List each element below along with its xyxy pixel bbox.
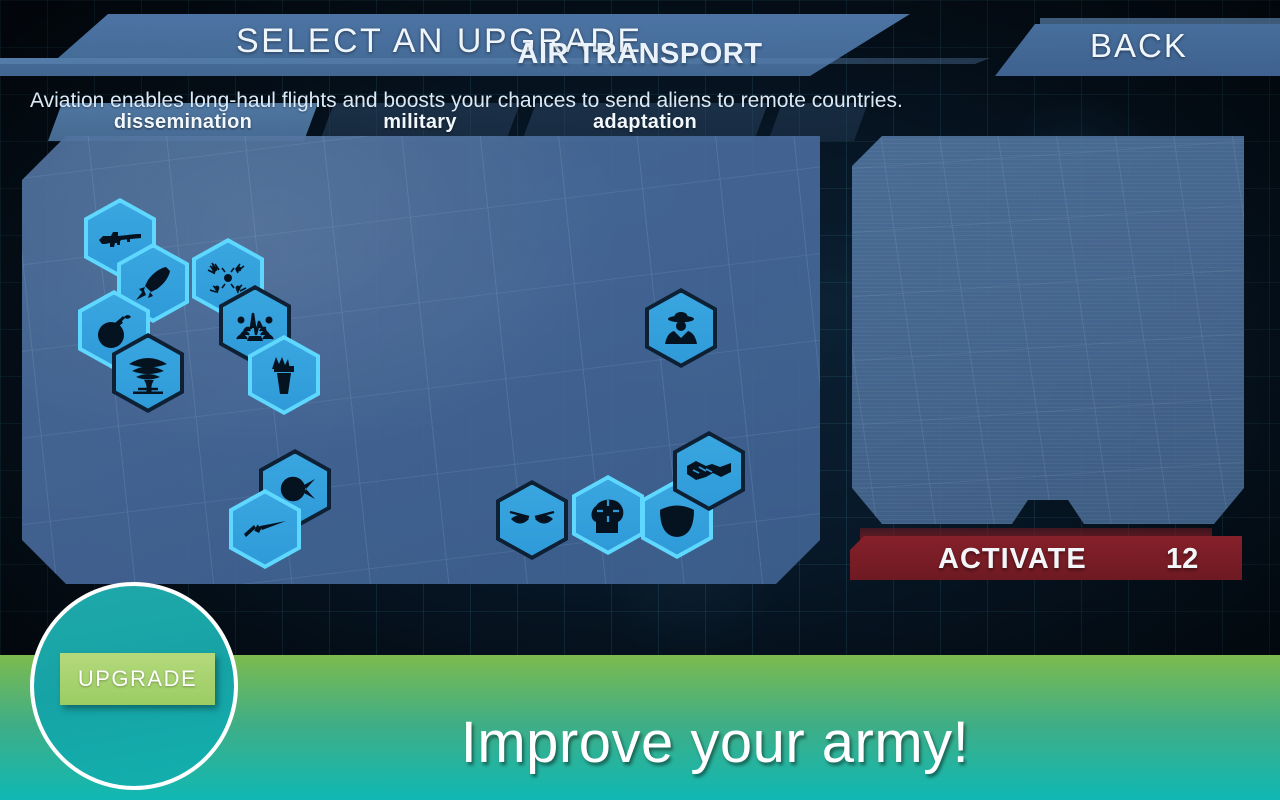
info-panel-scanlines xyxy=(852,136,1244,524)
tab-military-label: military xyxy=(383,111,457,134)
upgrade-title: AIR TRANSPORT xyxy=(0,38,1280,71)
upgrade-node-dagger[interactable] xyxy=(229,489,301,569)
upgrade-node-eyes[interactable] xyxy=(496,480,568,560)
back-button-accent xyxy=(1040,18,1280,24)
upgrade-info-panel xyxy=(852,136,1244,524)
upgrade-node-nuclear-blast[interactable] xyxy=(112,333,184,413)
upgrade-promo-button[interactable]: UPGRADE xyxy=(60,653,215,705)
upgrade-description: Aviation enables long-haul flights and b… xyxy=(30,88,1256,113)
upgrade-node-spy-agent[interactable] xyxy=(645,288,717,368)
upgrade-screen: SELECT AN UPGRADE BACK dissemination mil… xyxy=(0,0,1280,800)
upgrade-node-torch[interactable] xyxy=(248,335,320,415)
tab-dissemination-label: dissemination xyxy=(114,111,252,134)
upgrade-node-mind-target[interactable] xyxy=(572,475,644,555)
tab-adaptation-label: adaptation xyxy=(593,111,697,134)
activate-button[interactable] xyxy=(850,536,1242,580)
upgrade-node-handshake[interactable] xyxy=(673,431,745,511)
upgrade-promo-button-label: UPGRADE xyxy=(78,666,197,692)
